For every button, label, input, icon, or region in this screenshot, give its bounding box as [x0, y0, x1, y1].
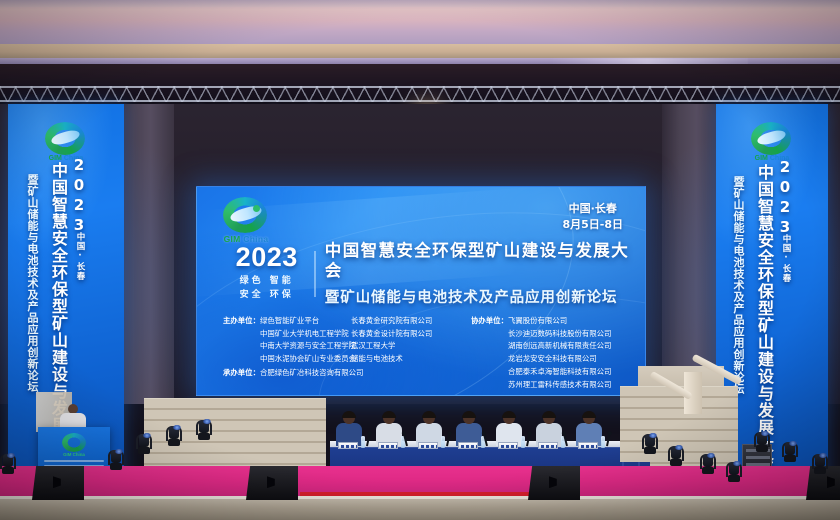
- organizer-name: 长春黄金设计院有限公司: [351, 329, 432, 338]
- light-lens: [115, 449, 123, 454]
- light-housing: [199, 420, 209, 433]
- organizer-name: 长春黄金研究院有限公司: [351, 316, 432, 325]
- screen-location-block: 中国·长春 8月5日-8日: [562, 201, 623, 233]
- conference-stage-photo: GIM China 中国智慧安全环保型矿山建设与发展大会 2023 中国·长春 …: [0, 0, 840, 520]
- organizer-name: 武汉工程大学: [351, 341, 395, 350]
- monitor-grille: [827, 476, 835, 488]
- stage-monitor-speaker: [528, 466, 580, 500]
- table-name-card: [578, 442, 598, 449]
- organizer-row: 协办单位：合肥泰禾卓海智能科技有限公司: [471, 366, 631, 379]
- table-name-card: [538, 442, 558, 449]
- moving-head-floor-light: [782, 440, 798, 462]
- light-housing: [757, 432, 767, 445]
- logo-dot-icon: [253, 205, 260, 212]
- co-organizer-column: 协办单位：飞翼股份有限公司协办单位：长沙迪迈数码科技股份有限公司协办单位：湖南创…: [471, 315, 631, 391]
- light-base: [198, 433, 210, 440]
- screen-title-sub: 暨矿山储能与电池技术及产品应用创新论坛: [325, 286, 645, 307]
- screen-slogan-line1: 绿色 智能: [221, 275, 312, 289]
- name-card-text: [501, 445, 517, 448]
- monitor-grille: [267, 476, 275, 488]
- screen-slogan-line2: 安全 环保: [221, 289, 312, 303]
- light-housing: [815, 454, 825, 467]
- light-housing: [785, 442, 795, 455]
- light-lens: [675, 445, 683, 450]
- light-lens: [649, 433, 657, 438]
- light-housing: [111, 450, 121, 463]
- moving-head-floor-light: [642, 432, 658, 454]
- lectern-logo-text: GIM China: [38, 452, 110, 457]
- panel-member-hair: [502, 411, 516, 418]
- panel-member: [536, 412, 562, 446]
- proscenium-pillar-right: [662, 104, 720, 404]
- undertaker-label: 承办单位：: [223, 368, 260, 377]
- organizer-row: 协办单位：龙岩龙安安全科技有限公司: [471, 353, 631, 366]
- table-name-card: [418, 442, 438, 449]
- panel-member: [496, 412, 522, 446]
- moving-head-floor-light: [108, 448, 124, 470]
- stage-monitor-speaker: [246, 466, 298, 500]
- light-lens: [819, 453, 827, 458]
- light-lens: [789, 441, 797, 446]
- moving-head-floor-light: [700, 452, 716, 474]
- name-card-text: [421, 445, 437, 448]
- organizer-row: 主办单位：绿色智能矿业平台: [223, 315, 351, 328]
- banner-left-location: 中国·长春: [74, 232, 86, 281]
- organizer-row: 储能与电池技术: [351, 353, 471, 366]
- panel-member: [456, 412, 482, 446]
- organizer-row: 武汉工程大学: [351, 340, 471, 353]
- organizer-name: 合肥泰禾卓海智能科技有限公司: [508, 367, 611, 376]
- organizer-row: 长春黄金设计院有限公司: [351, 328, 471, 341]
- light-lens: [7, 453, 15, 458]
- organizer-row: 协办单位：湖南创远高新机械有限责任公司: [471, 340, 631, 353]
- light-housing: [139, 434, 149, 447]
- organizer-label: 主办单位：: [223, 316, 260, 325]
- moving-head-floor-light: [196, 418, 212, 440]
- organizer-row: 主办单位：中国水泥协会矿山专业委员会: [223, 353, 351, 366]
- ceiling-wash: [0, 0, 840, 44]
- light-base: [670, 459, 682, 466]
- light-base: [110, 463, 122, 470]
- apron-edge-highlight: [0, 496, 840, 499]
- banner-right-location: 中国·长春: [780, 234, 792, 283]
- organizer-name: 飞翼股份有限公司: [508, 316, 567, 325]
- water-bottle: [361, 436, 365, 448]
- stage-monitor-speaker: [32, 466, 84, 500]
- moving-head-floor-light: [668, 444, 684, 466]
- monitor-grille: [53, 476, 61, 488]
- organizer-label: 协办单位：: [471, 316, 508, 325]
- light-base: [168, 439, 180, 446]
- light-housing: [671, 446, 681, 459]
- undertaker-name: 合肥绿色矿冶科技咨询有限公司: [260, 368, 363, 377]
- screen-title-main: 中国智慧安全环保型矿山建设与发展大会: [325, 241, 645, 281]
- light-base: [728, 475, 740, 482]
- moving-head-floor-light: [812, 452, 828, 474]
- moving-head-floor-light: [136, 432, 152, 454]
- light-housing: [3, 454, 13, 467]
- light-lens: [143, 433, 151, 438]
- banner-left-logo-green: GIM: [49, 155, 62, 162]
- organizer-name: 湖南创远高新机械有限责任公司: [508, 341, 611, 350]
- light-base: [784, 455, 796, 462]
- water-bottle: [441, 436, 445, 448]
- lectern-logo-icon: [62, 433, 86, 452]
- organizer-row: 协办单位：长沙迪迈数码科技股份有限公司: [471, 328, 631, 341]
- light-lens: [203, 419, 211, 424]
- panel-member: [416, 412, 442, 446]
- moving-head-floor-light: [754, 430, 770, 452]
- organizer-row: 长春黄金研究院有限公司: [351, 315, 471, 328]
- panel-member-hair: [582, 411, 596, 418]
- table-name-card: [338, 442, 358, 449]
- light-lens: [761, 431, 769, 436]
- name-card-text: [341, 445, 357, 448]
- moving-head-floor-light: [166, 424, 182, 446]
- name-card-text: [581, 445, 597, 448]
- light-base: [756, 445, 768, 452]
- table-name-card: [458, 442, 478, 449]
- table-name-card: [498, 442, 518, 449]
- organizer-name: 绿色智能矿业平台: [260, 316, 319, 325]
- panel-member-hair: [422, 411, 436, 418]
- banner-left-title-sub: 暨矿山储能与电池技术及产品应用创新论坛: [24, 174, 40, 393]
- moving-head-floor-light: [0, 452, 16, 474]
- organizer-name: 中国水泥协会矿山专业委员会: [260, 354, 356, 363]
- main-led-screen: GIM China 中国·长春 8月5日-8日 2023 绿色 智能 安全 环保…: [196, 186, 646, 396]
- panel-member: [376, 412, 402, 446]
- banner-right-title-main: 中国智慧安全环保型矿山建设与发展大会: [752, 164, 776, 470]
- host-organizer-column-1: 主办单位：绿色智能矿业平台主办单位：中国矿业大学机电工程学院主办单位：中南大学资…: [223, 315, 351, 391]
- ceiling-beam: [0, 44, 840, 58]
- organizer-row: 协办单位：飞翼股份有限公司: [471, 315, 631, 328]
- table-name-card: [378, 442, 398, 449]
- light-lens: [173, 425, 181, 430]
- light-base: [2, 467, 14, 474]
- organizer-name: 苏州理工雷科传感技术有限公司: [508, 380, 611, 389]
- light-housing: [169, 426, 179, 439]
- panel-member-hair: [542, 411, 556, 418]
- lectern-title-line-1: [44, 460, 104, 462]
- host-organizer-column-2: 长春黄金研究院有限公司长春黄金设计院有限公司武汉工程大学储能与电池技术: [351, 315, 471, 391]
- name-card-text: [381, 445, 397, 448]
- panel-member: [336, 412, 362, 446]
- water-bottle: [601, 436, 605, 448]
- light-housing: [729, 462, 739, 475]
- screen-dates: 8月5日-8日: [562, 217, 623, 233]
- light-lens: [707, 453, 715, 458]
- ceiling-light-band: [0, 0, 840, 7]
- undertaker-row: 承办单位：合肥绿色矿冶科技咨询有限公司: [223, 367, 363, 378]
- moving-head-floor-light: [726, 460, 742, 482]
- banner-right-title-sub: 暨矿山储能与电池技术及产品应用创新论坛: [730, 176, 746, 395]
- light-base: [138, 447, 150, 454]
- name-card-text: [541, 445, 557, 448]
- banner-right-year: 2023: [776, 158, 794, 238]
- title-divider: [314, 251, 315, 297]
- name-card-text: [461, 445, 477, 448]
- panel-member-hair: [462, 411, 476, 418]
- light-housing: [703, 454, 713, 467]
- panel-member-hair: [342, 411, 356, 418]
- panel-member-hair: [382, 411, 396, 418]
- organizer-row: 协办单位：苏州理工雷科传感技术有限公司: [471, 379, 631, 392]
- organizer-name: 中国矿业大学机电工程学院: [260, 329, 349, 338]
- panel-member: [576, 412, 602, 446]
- screen-title-row: 2023 绿色 智能 安全 环保 中国智慧安全环保型矿山建设与发展大会 暨矿山储…: [221, 241, 645, 307]
- light-base: [644, 447, 656, 454]
- light-housing: [645, 434, 655, 447]
- organizer-name: 长沙迪迈数码科技股份有限公司: [508, 329, 611, 338]
- screen-location: 中国·长春: [562, 201, 623, 217]
- proscenium-pillar-left: [116, 104, 174, 404]
- light-base: [702, 467, 714, 474]
- organizer-block: 主办单位：绿色智能矿业平台主办单位：中国矿业大学机电工程学院主办单位：中南大学资…: [223, 315, 631, 391]
- organizer-row: 主办单位：中国矿业大学机电工程学院: [223, 328, 351, 341]
- light-base: [814, 467, 826, 474]
- screen-year-block: 2023 绿色 智能 安全 环保: [221, 244, 312, 303]
- organizer-name: 储能与电池技术: [351, 354, 403, 363]
- organizer-row: 主办单位：中南大学资源与安全工程学院: [223, 340, 351, 353]
- banner-left-year: 2023: [70, 156, 88, 236]
- water-bottle: [521, 436, 525, 448]
- stage-front-apron: [0, 496, 840, 520]
- screen-year: 2023: [221, 244, 312, 271]
- organizer-name: 龙岩龙安安全科技有限公司: [508, 354, 597, 363]
- truss-upper: [0, 86, 840, 102]
- organizer-name: 中南大学资源与安全工程学院: [260, 341, 356, 350]
- monitor-grille: [549, 476, 557, 488]
- light-lens: [733, 461, 741, 466]
- banner-right-logo-green: GIM: [755, 155, 768, 162]
